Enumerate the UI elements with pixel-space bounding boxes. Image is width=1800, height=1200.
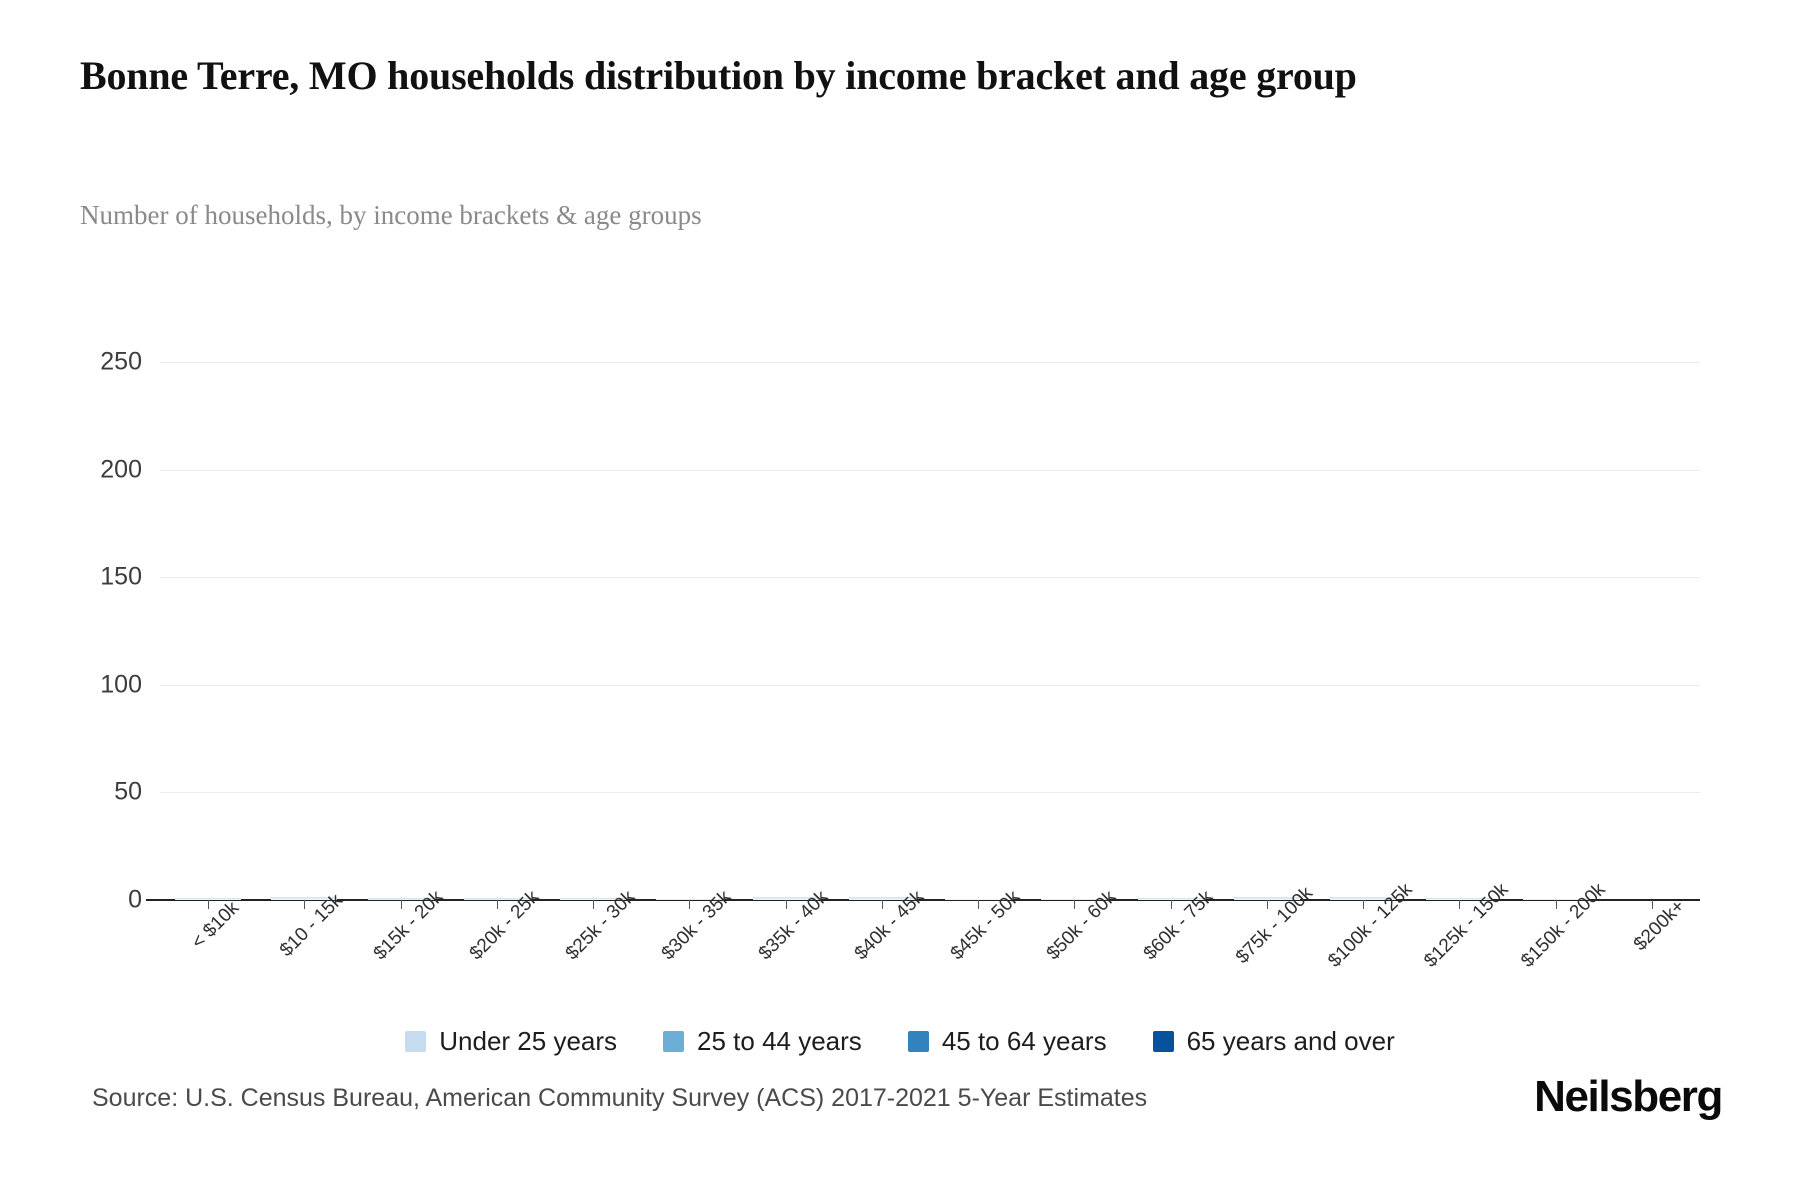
- y-axis-tick-label: 0: [128, 886, 142, 915]
- legend-swatch-icon: [663, 1031, 684, 1052]
- legend-swatch-icon: [908, 1031, 929, 1052]
- page-title: Bonne Terre, MO households distribution …: [80, 52, 1720, 99]
- bar-slot[interactable]: $50k - 60k: [1026, 362, 1122, 900]
- source-note: Source: U.S. Census Bureau, American Com…: [92, 1084, 1147, 1113]
- x-axis-tickmark: [1556, 900, 1557, 909]
- legend-label: 25 to 44 years: [697, 1026, 862, 1057]
- legend-label: Under 25 years: [439, 1026, 617, 1057]
- x-axis-tickmark: [689, 900, 690, 909]
- x-axis-tick-label: $100k - 125k: [1324, 879, 1417, 972]
- y-axis-tick-label: 150: [100, 563, 142, 592]
- legend-swatch-icon: [1153, 1031, 1174, 1052]
- x-axis-tickmark: [1074, 900, 1075, 909]
- bar-slot[interactable]: $40k - 45k: [834, 362, 930, 900]
- x-axis-tickmark: [1652, 900, 1653, 909]
- y-axis-tick-label: 50: [114, 778, 142, 807]
- x-axis-tickmark: [208, 900, 209, 909]
- y-axis-tick-label: 250: [100, 348, 142, 377]
- x-axis-tickmark: [497, 900, 498, 909]
- bar-slot[interactable]: $20k - 25k: [449, 362, 545, 900]
- bar-group: < $10k$10 - 15k$15k - 20k$20k - 25k$25k …: [160, 362, 1700, 900]
- bar-slot[interactable]: $125k - 150k: [1411, 362, 1507, 900]
- x-axis-tick-label: $125k - 150k: [1421, 879, 1514, 972]
- x-axis-tickmark: [1171, 900, 1172, 909]
- bar-slot[interactable]: $45k - 50k: [930, 362, 1026, 900]
- bar-slot[interactable]: $25k - 30k: [545, 362, 641, 900]
- x-axis-tickmark: [401, 900, 402, 909]
- x-axis-tickmark: [593, 900, 594, 909]
- x-axis-tick-label: $200k+: [1630, 896, 1690, 956]
- y-axis-tick-label: 200: [100, 455, 142, 484]
- x-axis-tickmark: [978, 900, 979, 909]
- legend-item[interactable]: 25 to 44 years: [663, 1026, 862, 1057]
- x-axis-tickmark: [1363, 900, 1364, 909]
- x-axis-tick-label: < $10k: [188, 898, 244, 954]
- bar-slot[interactable]: $30k - 35k: [641, 362, 737, 900]
- plot-area: 050100150200250 < $10k$10 - 15k$15k - 20…: [160, 362, 1700, 900]
- brand-logo: Neilsberg: [1534, 1072, 1722, 1122]
- chart-page: Bonne Terre, MO households distribution …: [0, 0, 1800, 1200]
- bar-slot[interactable]: $10 - 15k: [256, 362, 352, 900]
- legend-label: 65 years and over: [1187, 1026, 1395, 1057]
- bar-slot[interactable]: $60k - 75k: [1123, 362, 1219, 900]
- chart-legend: Under 25 years25 to 44 years45 to 64 yea…: [0, 1026, 1800, 1057]
- legend-swatch-icon: [405, 1031, 426, 1052]
- bar-slot[interactable]: $75k - 100k: [1219, 362, 1315, 900]
- legend-item[interactable]: 45 to 64 years: [908, 1026, 1107, 1057]
- x-axis-tick-label: $150k - 200k: [1517, 879, 1610, 972]
- legend-item[interactable]: Under 25 years: [405, 1026, 617, 1057]
- bar-slot[interactable]: $100k - 125k: [1315, 362, 1411, 900]
- x-axis-tickmark: [786, 900, 787, 909]
- x-axis-tickmark: [304, 900, 305, 909]
- legend-label: 45 to 64 years: [942, 1026, 1107, 1057]
- x-axis-tick-label: $75k - 100k: [1232, 883, 1318, 969]
- x-axis-tickmark: [1459, 900, 1460, 909]
- x-axis-tickmark: [1267, 900, 1268, 909]
- bar-slot[interactable]: $200k+: [1604, 362, 1700, 900]
- bar-slot[interactable]: $35k - 40k: [738, 362, 834, 900]
- bar-slot[interactable]: < $10k: [160, 362, 256, 900]
- legend-item[interactable]: 65 years and over: [1153, 1026, 1395, 1057]
- bar-slot[interactable]: $150k - 200k: [1508, 362, 1604, 900]
- page-subtitle: Number of households, by income brackets…: [80, 200, 1580, 231]
- bar-slot[interactable]: $15k - 20k: [353, 362, 449, 900]
- y-axis-tick-label: 100: [100, 670, 142, 699]
- x-axis-tickmark: [882, 900, 883, 909]
